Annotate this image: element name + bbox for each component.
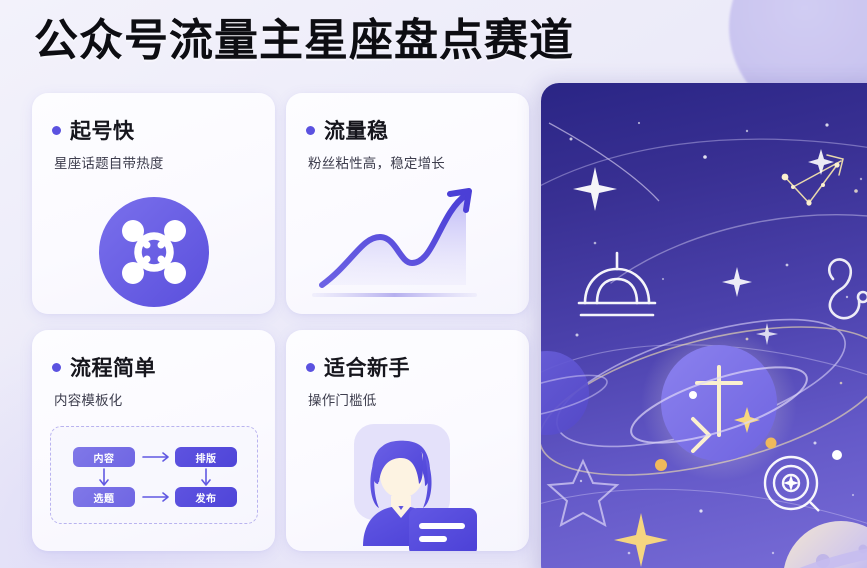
feature-card-shihexinshou[interactable]: 适合新手 操作门槛低	[286, 330, 529, 551]
bullet-dot-icon	[52, 363, 61, 372]
poster-root: 公众号流量主星座盘点赛道 起号快 星座话题自带热度	[0, 0, 867, 568]
feature-card-liuliangwen[interactable]: 流量稳 粉丝粘性高，稳定增长	[286, 93, 529, 314]
growth-arrow-chart-icon	[300, 185, 515, 314]
card-subtitle: 星座话题自带热度	[54, 152, 275, 172]
bullet-dot-icon	[306, 363, 315, 372]
flow-node: 选题	[73, 487, 135, 507]
card-header: 流量稳 粉丝粘性高，稳定增长	[286, 93, 529, 172]
flow-node: 发布	[175, 487, 237, 507]
card-header: 适合新手 操作门槛低	[286, 330, 529, 409]
page-title: 公众号流量主星座盘点赛道	[34, 16, 574, 67]
card-header: 起号快 星座话题自带热度	[32, 93, 275, 172]
zodiac-cosmos-illustration	[541, 83, 867, 568]
card-title: 适合新手	[324, 352, 410, 382]
card-subtitle: 粉丝粘性高，稳定增长	[308, 152, 529, 172]
flow-diagram-icon: 内容 排版 选题 发布	[50, 426, 258, 524]
flow-node: 排版	[175, 447, 237, 467]
card-artwork	[286, 422, 529, 551]
bullet-dot-icon	[306, 126, 315, 135]
feature-card-grid: 起号快 星座话题自带热度	[32, 93, 529, 551]
bullet-dot-icon	[52, 126, 61, 135]
network-nodes-icon	[95, 193, 213, 314]
card-subtitle: 操作门槛低	[308, 389, 529, 409]
feature-card-qihaokuai[interactable]: 起号快 星座话题自带热度	[32, 93, 275, 314]
card-subtitle: 内容模板化	[54, 389, 275, 409]
card-title: 起号快	[70, 115, 135, 145]
card-header: 流程简单 内容模板化	[32, 330, 275, 409]
card-artwork	[286, 185, 529, 314]
person-avatar-icon	[333, 422, 483, 551]
feature-card-liuchengjiandan[interactable]: 流程简单 内容模板化	[32, 330, 275, 551]
card-title: 流量稳	[324, 115, 389, 145]
card-artwork: 内容 排版 选题 发布	[32, 422, 275, 551]
card-artwork	[32, 185, 275, 314]
flow-node: 内容	[73, 447, 135, 467]
card-title: 流程简单	[70, 352, 156, 382]
